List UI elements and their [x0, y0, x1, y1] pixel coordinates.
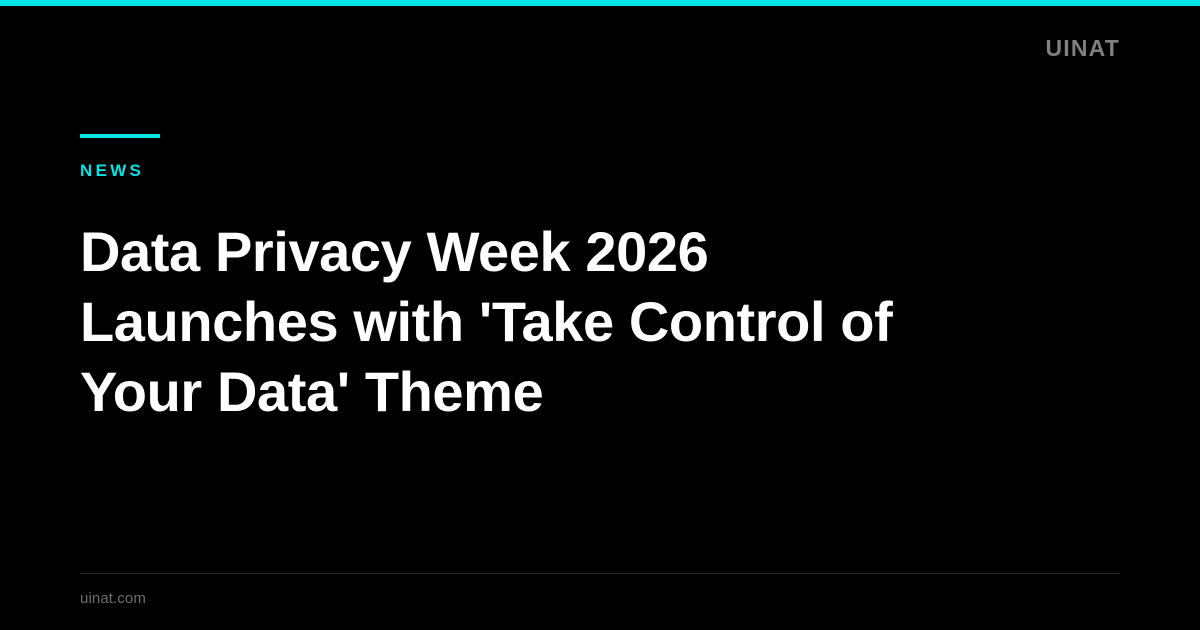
footer-site-url: uinat.com [80, 591, 1120, 606]
card-header: UINAT [80, 6, 1120, 90]
card-body: NEWS Data Privacy Week 2026 Launches wit… [80, 120, 1120, 427]
news-social-card: UINAT NEWS Data Privacy Week 2026 Launch… [0, 0, 1200, 630]
card-footer: uinat.com [80, 573, 1120, 606]
category-label: NEWS [80, 162, 1120, 179]
brand-wordmark: UINAT [1045, 37, 1120, 60]
category-accent-rule [80, 134, 160, 138]
footer-divider [80, 573, 1120, 574]
headline: Data Privacy Week 2026 Launches with 'Ta… [80, 217, 980, 427]
